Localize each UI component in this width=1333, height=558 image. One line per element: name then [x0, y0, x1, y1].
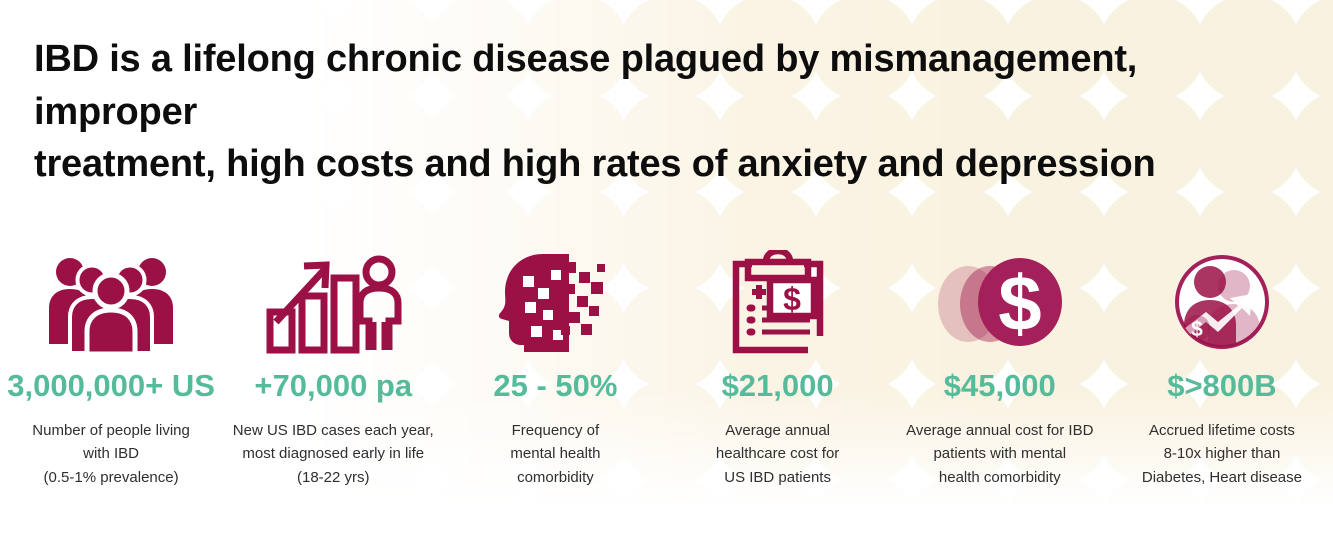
stat-card-new-cases: +70,000 pa New US IBD cases each year, m… — [222, 248, 444, 490]
medical-clipboard-dollar-icon: $ — [722, 248, 834, 356]
svg-text:$: $ — [998, 259, 1041, 347]
svg-text:$: $ — [783, 281, 801, 317]
group-of-people-icon — [36, 248, 186, 356]
stat-value: $>800B — [1167, 370, 1276, 403]
growth-bar-chart-person-icon — [262, 248, 404, 356]
stat-caption: Frequency of mental health comorbidity — [504, 419, 606, 490]
slide-canvas: IBD is a lifelong chronic disease plague… — [0, 0, 1333, 558]
stat-value: $21,000 — [722, 370, 834, 403]
stat-caption: Average annual healthcare cost for US IB… — [710, 419, 845, 490]
head-pixel-dissolve-icon — [491, 248, 619, 356]
stat-value: $45,000 — [944, 370, 1056, 403]
stat-value: 25 - 50% — [493, 370, 617, 403]
stat-card-population: 3,000,000+ US Number of people living wi… — [0, 248, 222, 490]
stacked-coins-dollar-icon: $ — [924, 248, 1076, 356]
stat-value: 3,000,000+ US — [7, 370, 215, 403]
stat-caption: New US IBD cases each year, most diagnos… — [227, 419, 440, 490]
stat-strip: 3,000,000+ US Number of people living wi… — [0, 248, 1333, 490]
stat-caption: Accrued lifetime costs 8-10x higher than… — [1136, 419, 1308, 490]
stat-caption: Average annual cost for IBD patients wit… — [900, 419, 1099, 490]
stat-card-annual-cost: $ $21,000 Average annual healthcare cost… — [667, 248, 889, 490]
stat-card-mental-health: 25 - 50% Frequency of mental health como… — [444, 248, 666, 490]
stat-card-comorbidity-cost: $ $45,000 Average annual cost for IBD pa… — [889, 248, 1111, 490]
stat-caption: Number of people living with IBD (0.5-1%… — [26, 419, 196, 490]
stat-card-lifetime-cost: $ $>800B Accrued lifetime costs 8-10x hi… — [1111, 248, 1333, 490]
people-rising-cost-circle-icon: $ — [1166, 248, 1278, 356]
stat-value: +70,000 pa — [254, 370, 412, 403]
page-title: IBD is a lifelong chronic disease plague… — [34, 33, 1304, 190]
